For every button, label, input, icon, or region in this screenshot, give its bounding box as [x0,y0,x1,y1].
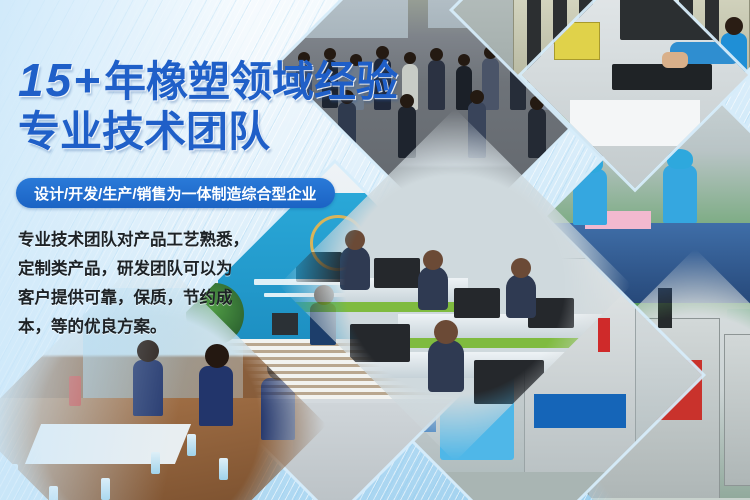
body-copy-line: 客户提供可靠，保质，节约成 [18,284,270,313]
years-count: 15+ [18,54,102,106]
headline-line-1-text: 年橡塑领域经验 [104,58,398,105]
capability-badge-label: 设计/开发/生产/销售为一体制造综合型企业 [34,183,317,204]
company-intro-banner: 15+年橡塑领域经验 专业技术团队 设计/开发/生产/销售为一体制造综合型企业 … [0,0,750,500]
capability-badge: 设计/开发/生产/销售为一体制造综合型企业 [16,178,335,208]
body-copy: 专业技术团队对产品工艺熟悉， 定制类产品，研发团队可以为 客户提供可靠，保质，节… [18,226,270,342]
text-block: 15+年橡塑领域经验 专业技术团队 设计/开发/生产/销售为一体制造综合型企业 … [0,0,470,500]
headline-line-2: 专业技术团队 [18,108,270,156]
body-copy-line: 定制类产品，研发团队可以为 [18,255,270,284]
body-copy-line: 专业技术团队对产品工艺熟悉， [18,226,270,255]
body-copy-line: 本，等的优良方案。 [18,313,270,342]
headline-line-1: 15+年橡塑领域经验 [18,56,398,106]
